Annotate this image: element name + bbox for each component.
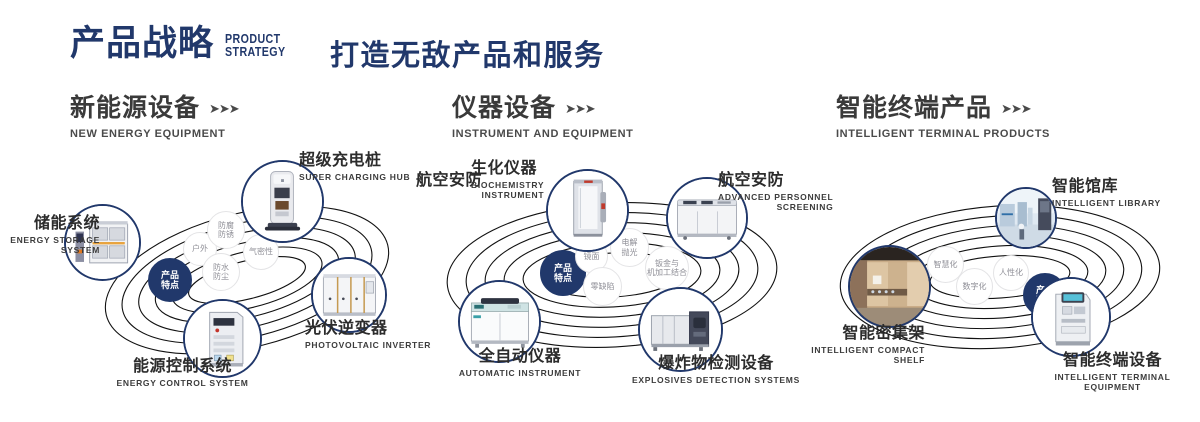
product-label-cn: 航空安防 bbox=[400, 172, 482, 190]
product-label-cn: 智能终端设备 bbox=[1025, 352, 1200, 370]
product-label-en: INTELLIGENT TERMINAL EQUIPMENT bbox=[1025, 372, 1200, 393]
section-title-cn: 智能终端产品 bbox=[836, 96, 992, 121]
product-label-en: ENERGY STORAGE SYSTEM bbox=[0, 235, 100, 256]
product-label-biochemistry-instrument: 生化仪器 BIOCHEMISTRY INSTRUMENT bbox=[471, 160, 544, 201]
product-label-cn: 全自动仪器 bbox=[420, 348, 620, 366]
page-title-cn: 产品战略 bbox=[70, 26, 214, 61]
product-label-en: PHOTOVOLTAIC INVERTER bbox=[305, 340, 431, 351]
product-label-energy-storage: 储能系统 ENERGY STORAGE SYSTEM bbox=[0, 215, 100, 256]
page-title-en: PRODUCT STRATEGY bbox=[225, 32, 286, 59]
feature-bubble: 数字化 bbox=[956, 268, 993, 305]
product-label-cn: 光伏逆变器 bbox=[305, 320, 431, 338]
product-circle-biochemistry-instrument[interactable] bbox=[546, 169, 629, 252]
feature-bubble: 防水防尘 bbox=[202, 253, 240, 291]
product-label-en: INTELLIGENT LIBRARY bbox=[1052, 198, 1161, 209]
product-label-cn: 能源控制系统 bbox=[85, 358, 280, 376]
product-label-en: SUPER CHARGING HUB bbox=[299, 172, 410, 183]
section-title-cn: 新能源设备 bbox=[70, 96, 200, 121]
feature-bubble: 人性化 bbox=[993, 255, 1029, 291]
product-label-aviation-security-left: 航空安防 bbox=[400, 172, 482, 190]
page-title-en-line2: STRATEGY bbox=[225, 45, 286, 59]
product-label-cn: 生化仪器 bbox=[471, 160, 544, 178]
section-title-cn: 仪器设备 bbox=[452, 96, 556, 121]
product-label-intelligent-compact-shelf: 智能密集架 INTELLIGENT COMPACT SHELF bbox=[785, 325, 925, 366]
product-circle-compact-shelving[interactable] bbox=[848, 245, 931, 328]
product-circle-intelligent-library[interactable] bbox=[995, 187, 1057, 249]
feature-bubble-highlight: 产品特点 bbox=[148, 258, 192, 302]
product-label-en: BIOCHEMISTRY INSTRUMENT bbox=[471, 180, 544, 201]
section-title-en: INSTRUMENT AND EQUIPMENT bbox=[452, 128, 633, 140]
product-label-en: EXPLOSIVES DETECTION SYSTEMS bbox=[605, 375, 827, 386]
chevron-right-icon: ➤➤➤ bbox=[209, 101, 239, 117]
product-label-cn: 智能馆库 bbox=[1052, 178, 1161, 196]
product-label-super-charging-hub: 超级充电桩 SUPER CHARGING HUB bbox=[299, 152, 410, 182]
product-label-en: AUTOMATIC INSTRUMENT bbox=[420, 368, 620, 379]
product-label-cn: 超级充电桩 bbox=[299, 152, 410, 170]
feature-bubble: 零缺陷 bbox=[583, 267, 622, 306]
product-circle-self-service-kiosk[interactable] bbox=[1031, 277, 1111, 357]
section-header-intelligent-terminal: 智能终端产品 ➤➤➤ INTELLIGENT TERMINAL PRODUCTS bbox=[836, 96, 1050, 140]
page-subtitle: 打造无敌产品和服务 bbox=[330, 32, 605, 74]
feature-bubble: 防腐防锈 bbox=[207, 211, 245, 249]
product-label-intelligent-library: 智能馆库 INTELLIGENT LIBRARY bbox=[1052, 178, 1161, 208]
product-label-intelligent-terminal-equipment: 智能终端设备 INTELLIGENT TERMINAL EQUIPMENT bbox=[1025, 352, 1200, 393]
product-strategy-infographic: 产品战略 PRODUCT STRATEGY 打造无敌产品和服务 新能源设备 ➤➤… bbox=[0, 0, 1200, 422]
chevron-right-icon: ➤➤➤ bbox=[1001, 101, 1031, 117]
product-label-photovoltaic-inverter: 光伏逆变器 PHOTOVOLTAIC INVERTER bbox=[305, 320, 431, 350]
product-label-en: INTELLIGENT COMPACT SHELF bbox=[785, 345, 925, 366]
product-label-en: ENERGY CONTROL SYSTEM bbox=[85, 378, 280, 389]
product-label-energy-control-system: 能源控制系统 ENERGY CONTROL SYSTEM bbox=[85, 358, 280, 388]
product-label-cn: 智能密集架 bbox=[785, 325, 925, 343]
product-label-cn: 储能系统 bbox=[0, 215, 100, 233]
section-header-new-energy: 新能源设备 ➤➤➤ NEW ENERGY EQUIPMENT bbox=[70, 96, 239, 140]
chevron-right-icon: ➤➤➤ bbox=[565, 101, 595, 117]
page-title-en-line1: PRODUCT bbox=[225, 32, 286, 46]
page-title: 产品战略 PRODUCT STRATEGY bbox=[70, 26, 299, 61]
section-header-instrument: 仪器设备 ➤➤➤ INSTRUMENT AND EQUIPMENT bbox=[452, 96, 633, 140]
section-title-en: INTELLIGENT TERMINAL PRODUCTS bbox=[836, 128, 1050, 140]
section-title-en: NEW ENERGY EQUIPMENT bbox=[70, 128, 239, 140]
product-label-automatic-instrument: 全自动仪器 AUTOMATIC INSTRUMENT bbox=[420, 348, 620, 378]
